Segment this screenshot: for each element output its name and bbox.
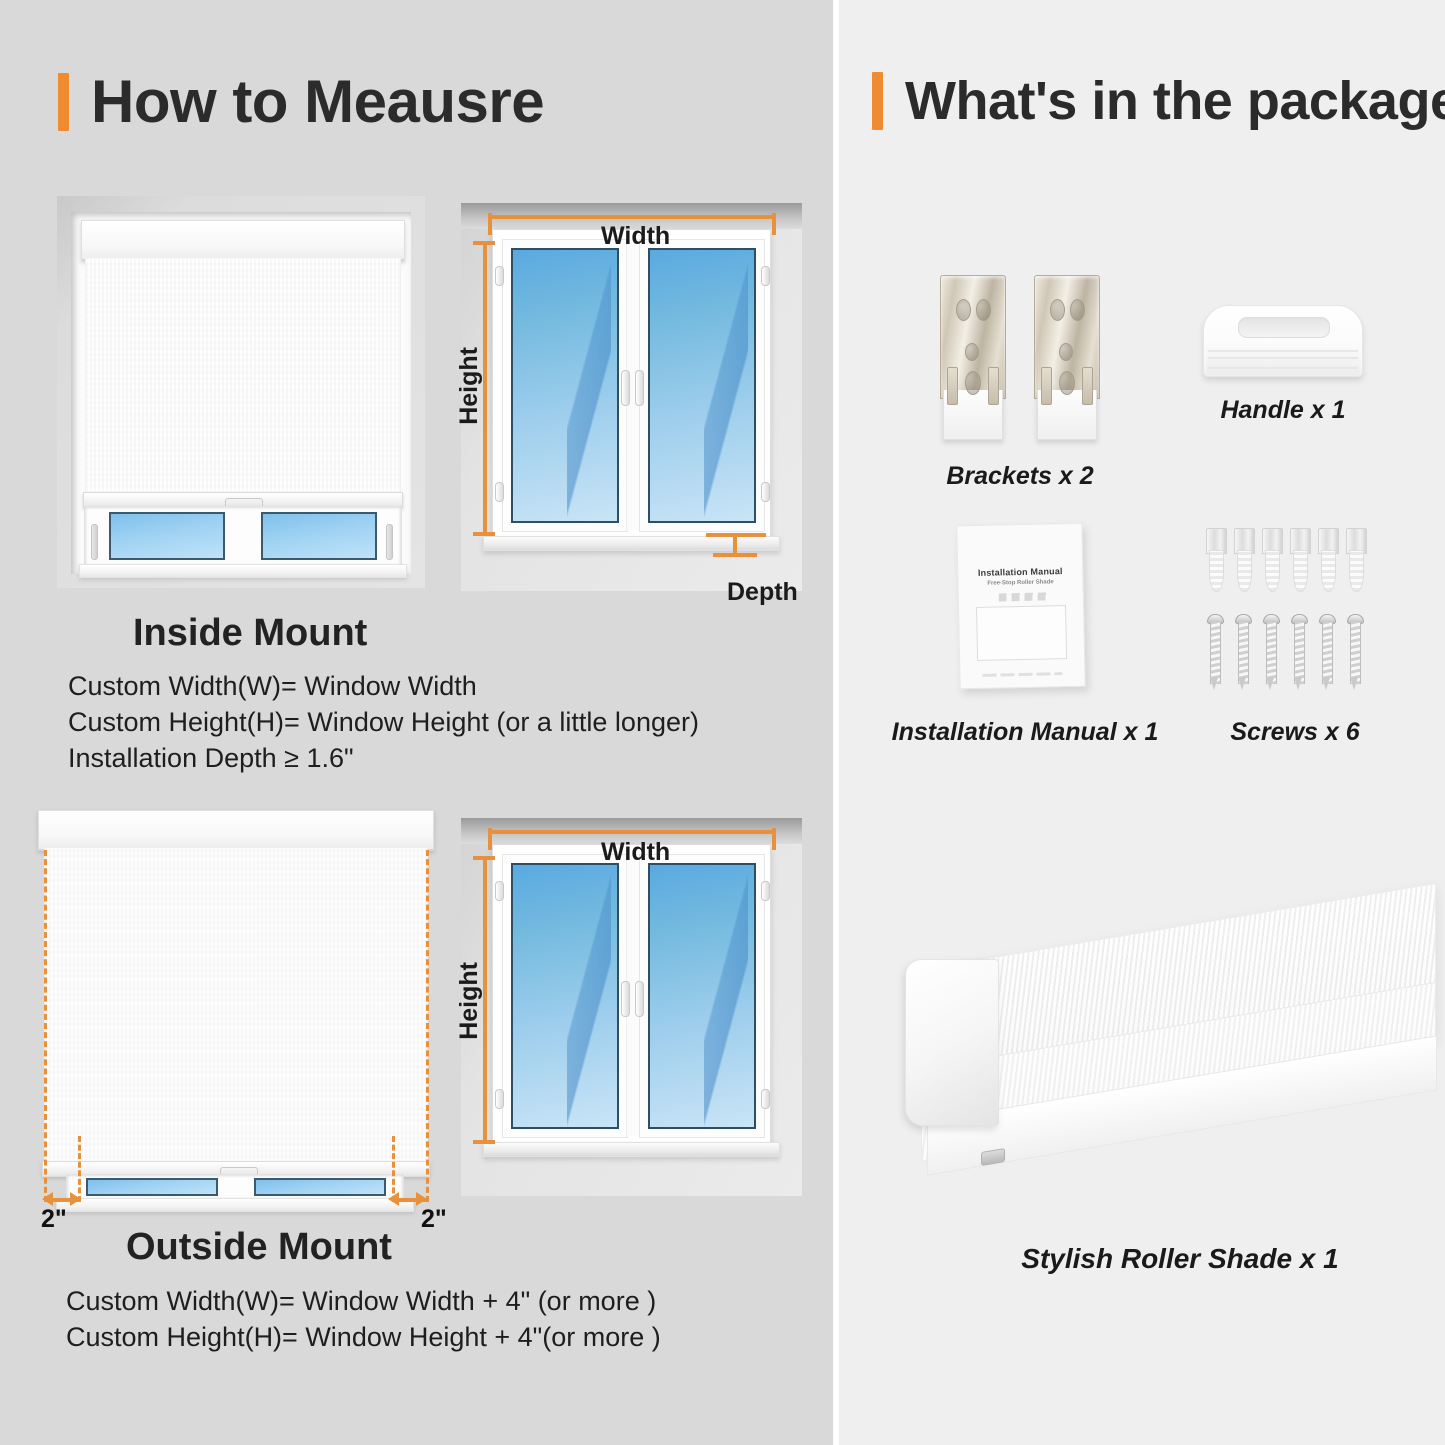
outside-mount-spec-1: Custom Width(W)= Window Width + 4" (or m… [66, 1286, 656, 1317]
width-measure-cap-right [772, 213, 776, 235]
screw-shaft [1294, 622, 1305, 684]
window-glass-right [261, 512, 377, 560]
anchors-group [1206, 528, 1376, 594]
overhang-guide-left [44, 850, 47, 1202]
installation-manual-label: Installation Manual x 1 [880, 718, 1170, 747]
screw-shaft [1266, 622, 1277, 684]
inside-mount-spec-1: Custom Width(W)= Window Width [68, 671, 477, 702]
window-hinge-bottom-right-icon [761, 482, 770, 502]
window-lever-right-icon [635, 981, 644, 1017]
wall-anchor [1262, 528, 1281, 590]
right-heading-text: What's in the package [905, 74, 1445, 128]
screws-label: Screws x 6 [1175, 718, 1415, 747]
outside-mount-measure-diagram [461, 818, 802, 1196]
window-sash-left [502, 239, 628, 532]
installation-manual-part: Installation Manual Free-Stop Roller Sha… [958, 524, 1084, 688]
window-sash-right [639, 854, 765, 1138]
manual-cover-title: Installation Manual [971, 566, 1070, 578]
infographic-page: How to Meausre What's in the package [0, 0, 1445, 1445]
width-measure-line [488, 215, 776, 219]
screw-tip [1294, 677, 1302, 690]
height-measure-cap-top [473, 856, 495, 860]
window-hinge-bottom-left-icon [495, 482, 504, 502]
window-sash-right [639, 239, 765, 532]
screw-tip [1266, 677, 1274, 690]
inside-mount-shade-illustration [57, 196, 425, 588]
bracket-slot [1082, 367, 1093, 405]
screw-tip [1350, 677, 1358, 690]
roller-shade-end-pin [981, 1148, 1005, 1166]
brackets-label: Brackets x 2 [900, 462, 1140, 491]
anchor-body [1349, 550, 1365, 592]
glass-sheen [567, 250, 611, 521]
bracket-hole [1059, 371, 1075, 395]
outside-mount-shade-illustration [30, 806, 440, 1196]
manual-scribble [998, 592, 1048, 601]
anchor-body [1237, 550, 1253, 592]
overhang-label-right: 2" [421, 1205, 447, 1234]
glass-sheen [567, 865, 611, 1127]
bracket-hole [1070, 299, 1085, 321]
wall-anchor [1346, 528, 1365, 590]
depth-measure-tick [733, 533, 737, 555]
overhang-arrow-right-start [388, 1192, 399, 1206]
accent-bar-icon [58, 73, 69, 131]
left-heading-text: How to Meausre [91, 72, 544, 132]
bracket-hole [1050, 299, 1065, 321]
screw-shaft [1350, 622, 1361, 684]
label-width-top: Width [601, 222, 670, 251]
bracket-part-2 [1034, 275, 1098, 440]
screw [1238, 614, 1247, 690]
wall-anchor [1206, 528, 1225, 590]
height-measure-cap-bottom [473, 1140, 495, 1144]
overhang-arrow-left-start [42, 1192, 53, 1206]
width-measure-cap-right [772, 828, 776, 850]
screw-shaft [1238, 622, 1249, 684]
handle-ridge [1208, 357, 1358, 359]
anchor-body [1265, 550, 1281, 592]
shade-fabric [44, 848, 428, 1164]
window-lever-right-icon [635, 370, 644, 406]
window-lever-left-icon [621, 370, 630, 406]
screw [1266, 614, 1275, 690]
label-height-left: Height [455, 347, 484, 425]
screws-group [1210, 614, 1380, 692]
bracket-hole [965, 371, 981, 395]
screw-shaft [1210, 622, 1221, 684]
overhang-arrow-right-end [416, 1192, 427, 1206]
inside-mount-title: Inside Mount [133, 612, 367, 655]
wall-anchor [1290, 528, 1309, 590]
outside-mount-spec-2: Custom Height(H)= Window Height + 4"(or … [66, 1322, 661, 1353]
overhang-arrow-left-end [70, 1192, 81, 1206]
height-measure-cap-bottom [473, 532, 495, 536]
window-hinge-bottom-right-icon [761, 1089, 770, 1109]
screw [1322, 614, 1331, 690]
roller-shade-product [905, 880, 1445, 1210]
manual-illustration-box [976, 605, 1066, 661]
window-sill [483, 1142, 780, 1157]
bracket-hole [1059, 343, 1073, 361]
screw [1210, 614, 1219, 690]
outside-mount-title: Outside Mount [126, 1226, 392, 1269]
wall-anchor [1234, 528, 1253, 590]
handle-label: Handle x 1 [1163, 396, 1403, 425]
left-panel-heading: How to Meausre [58, 72, 544, 132]
manual-cover-subtitle: Free-Stop Roller Shade [971, 579, 1070, 587]
wall-anchor [1318, 528, 1337, 590]
inside-mount-measure-diagram [461, 203, 802, 591]
width-measure-cap-left [488, 213, 492, 235]
label-width-top: Width [601, 838, 670, 867]
handle-ridge [1208, 350, 1358, 352]
overhang-guide-right [426, 850, 429, 1202]
width-measure-cap-left [488, 828, 492, 850]
manual-page: Installation Manual Free-Stop Roller Sha… [956, 523, 1085, 690]
anchor-body [1321, 550, 1337, 592]
bracket-slot [1041, 367, 1052, 405]
roller-shade-end-cap [905, 959, 999, 1126]
anchor-body [1209, 550, 1225, 592]
window-lever-left-icon [621, 981, 630, 1017]
screw [1350, 614, 1359, 690]
glass-sheen [704, 865, 748, 1127]
window-sill [56, 1198, 414, 1212]
bracket-hole [976, 299, 991, 321]
window-hinge-top-right-icon [761, 266, 770, 286]
anchor-body [1293, 550, 1309, 592]
manual-footer-text [983, 672, 1062, 677]
window-hinge-top-right-icon [761, 881, 770, 901]
window-sill [79, 564, 407, 578]
screw-tip [1322, 677, 1330, 690]
window-glass-left [511, 248, 619, 523]
screw-tip [1210, 677, 1218, 690]
roller-shade-label: Stylish Roller Shade x 1 [920, 1243, 1440, 1275]
depth-measure-base [713, 553, 757, 557]
bracket-hole [956, 299, 971, 321]
overhang-label-left: 2" [41, 1205, 67, 1234]
inside-mount-spec-2: Custom Height(H)= Window Height (or a li… [68, 707, 699, 738]
window-glass-left [109, 512, 225, 560]
screw-tip [1238, 677, 1246, 690]
label-height-left: Height [455, 962, 484, 1040]
window-handle-right-icon [386, 524, 393, 560]
bracket-hole [965, 343, 979, 361]
bracket-slot [947, 367, 958, 405]
window-glass-right [254, 1178, 386, 1196]
accent-bar-icon [872, 72, 883, 130]
window-glass-right [648, 248, 756, 523]
window-handle-left-icon [91, 524, 98, 560]
screw [1294, 614, 1303, 690]
window-glass-left [86, 1178, 218, 1196]
bracket-part-1 [940, 275, 1004, 440]
window-glass-left [511, 863, 619, 1129]
height-measure-cap-top [473, 241, 495, 245]
window-outer-frame [492, 844, 771, 1146]
window-hinge-bottom-left-icon [495, 1089, 504, 1109]
label-depth: Depth [727, 578, 798, 607]
window-hinge-top-left-icon [495, 266, 504, 286]
shade-fabric [85, 258, 401, 494]
inside-mount-spec-3: Installation Depth ≥ 1.6" [68, 743, 354, 774]
screw-shaft [1322, 622, 1333, 684]
glass-sheen [704, 250, 748, 521]
window-glass-right [648, 863, 756, 1129]
shade-headrail [81, 220, 405, 261]
width-measure-line [488, 830, 776, 834]
handle-part [1203, 305, 1363, 377]
bracket-slot [988, 367, 999, 405]
window-sash-left [502, 854, 628, 1138]
shade-headrail [38, 810, 434, 851]
right-panel-heading: What's in the package [872, 72, 1445, 130]
handle-ridge [1208, 367, 1358, 369]
handle-slot [1238, 317, 1330, 338]
window-outer-frame [492, 229, 771, 540]
window-hinge-top-left-icon [495, 881, 504, 901]
